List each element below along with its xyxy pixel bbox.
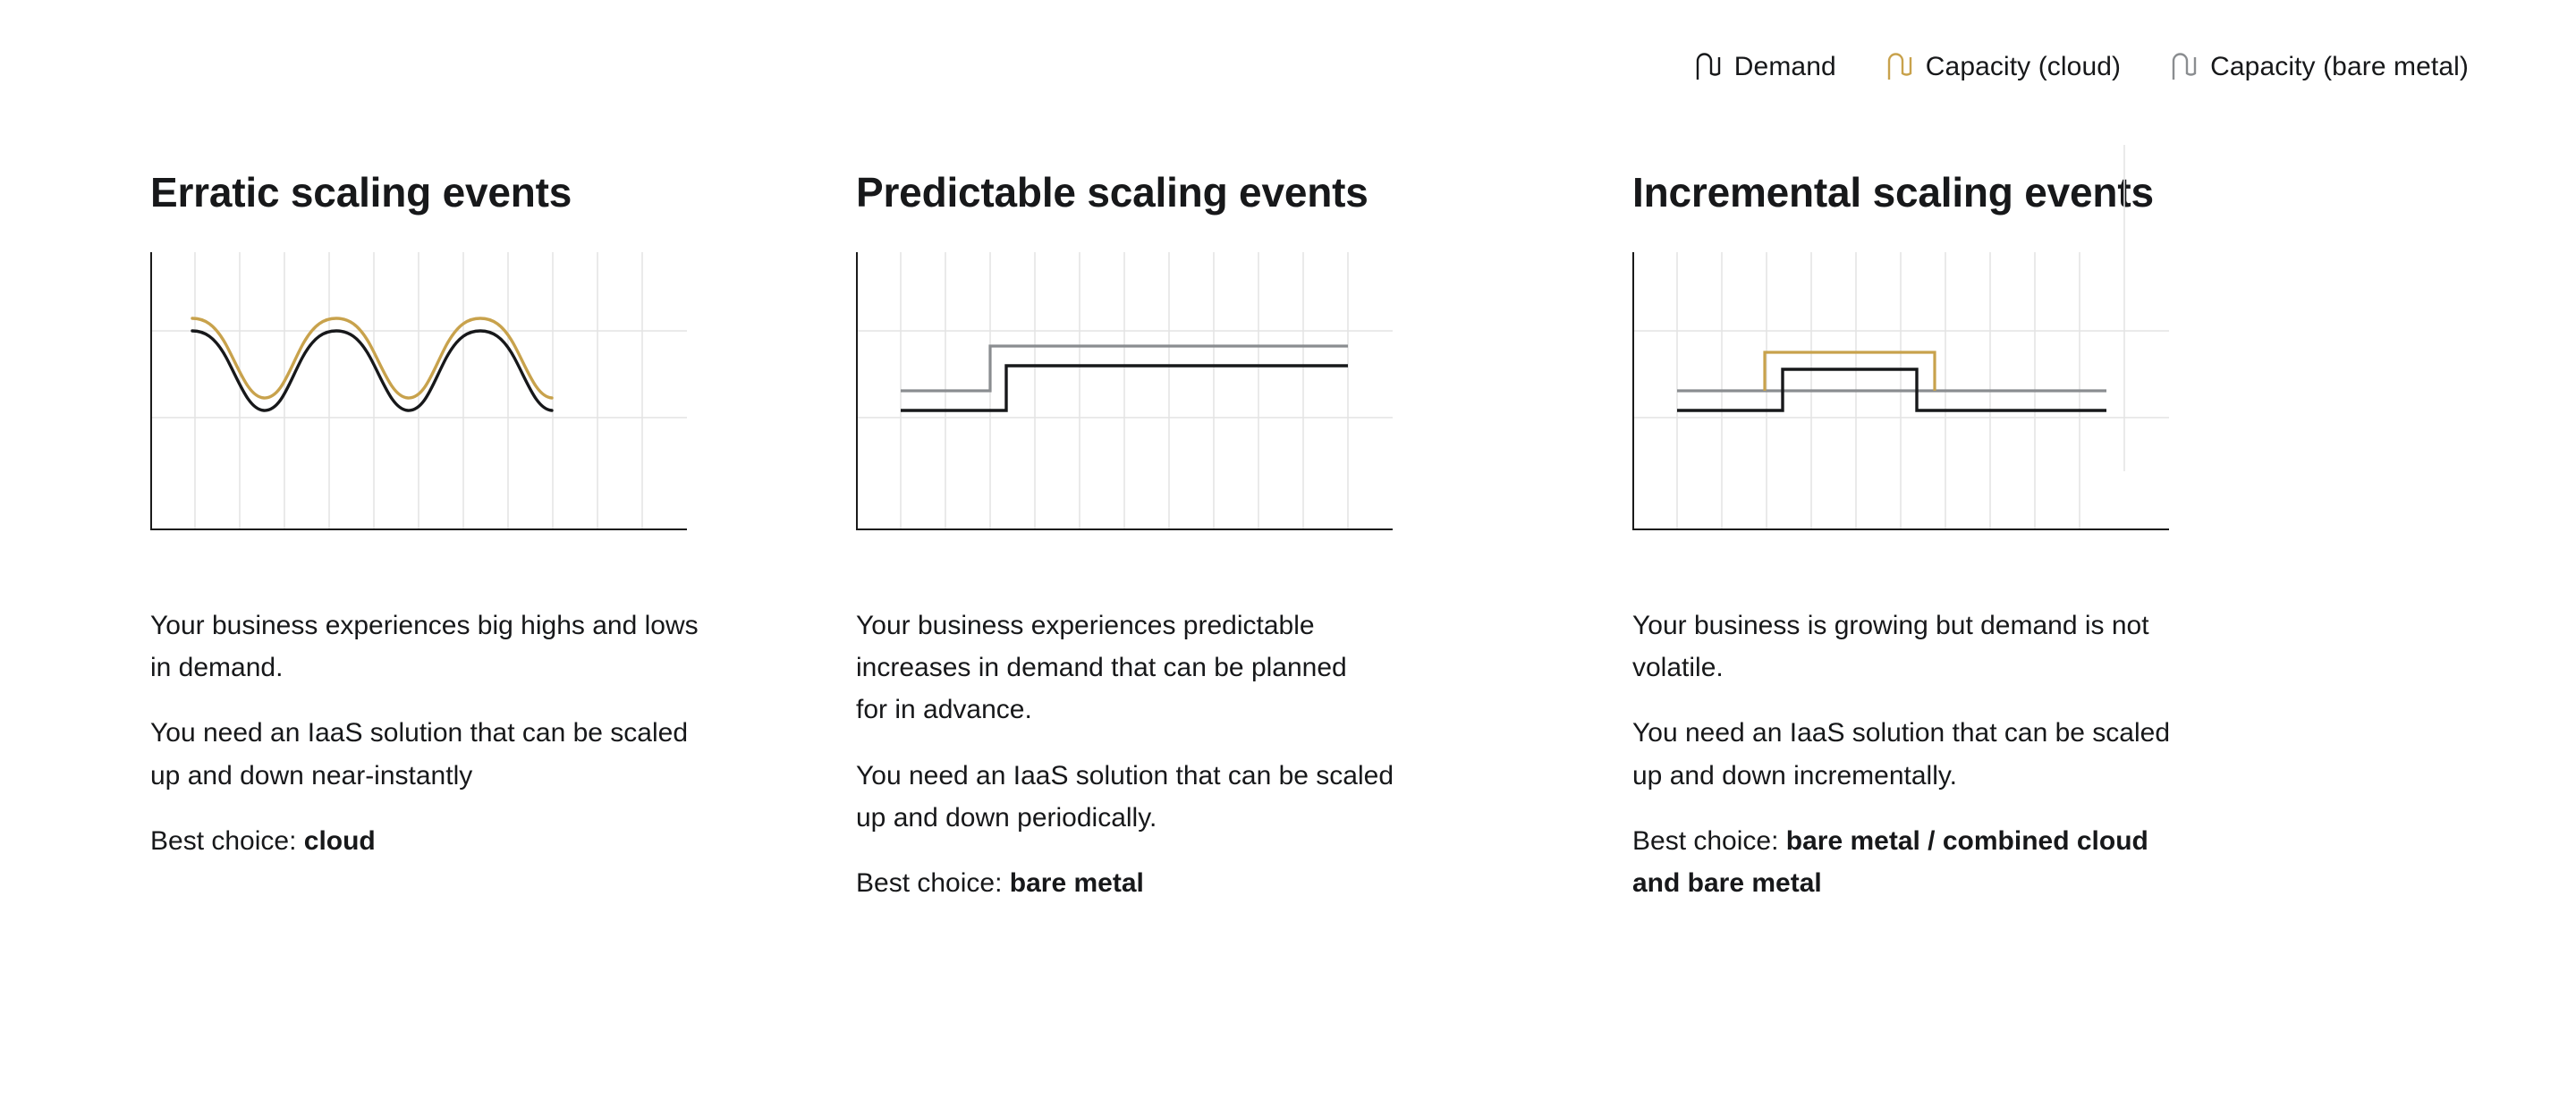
legend-item-capacity-cloud: Capacity (cloud) xyxy=(1886,52,2121,82)
paragraph-best-choice: Best choice: cloud xyxy=(150,820,705,862)
series-demand xyxy=(192,331,552,410)
paragraph-demand-description: Your business experiences predictable in… xyxy=(856,604,1384,731)
wave-icon xyxy=(1695,52,1722,82)
paragraph-solution-description: You need an IaaS solution that can be sc… xyxy=(856,755,1411,840)
chart-predictable-scaling-events xyxy=(856,252,1574,547)
best-choice-value: cloud xyxy=(304,826,376,856)
scaling-events-columns: Erratic scaling events xyxy=(0,170,2576,905)
description-erratic: Your business experiences big highs and … xyxy=(150,604,705,863)
best-choice-label: Best choice: xyxy=(150,826,304,856)
best-choice-label: Best choice: xyxy=(856,868,1010,898)
wave-icon xyxy=(2171,52,2198,82)
legend-item-demand: Demand xyxy=(1695,52,1836,82)
chart-erratic-scaling-events xyxy=(150,252,787,547)
column-incremental-scaling-events: Incremental scaling events xyxy=(1574,170,2361,905)
column-erratic-scaling-events: Erratic scaling events xyxy=(0,170,787,905)
series-capacity-cloud xyxy=(1765,352,1935,391)
chart-legend: Demand Capacity (cloud) Capacity (bare m… xyxy=(1695,52,2469,82)
page-title-predictable: Predictable scaling events xyxy=(856,170,1574,216)
best-choice-value: bare metal xyxy=(1010,868,1144,898)
legend-label-capacity-bare-metal: Capacity (bare metal) xyxy=(2210,54,2469,80)
description-predictable: Your business experiences predictable in… xyxy=(856,604,1411,905)
wave-icon xyxy=(1886,52,1913,82)
paragraph-solution-description: You need an IaaS solution that can be sc… xyxy=(1632,712,2187,797)
page-title-erratic: Erratic scaling events xyxy=(150,170,787,216)
paragraph-demand-description: Your business experiences big highs and … xyxy=(150,604,705,689)
chart-svg-incremental xyxy=(1632,252,2223,547)
paragraph-best-choice: Best choice: bare metal xyxy=(856,862,1411,904)
description-incremental: Your business is growing but demand is n… xyxy=(1632,604,2187,905)
chart-svg-predictable xyxy=(856,252,1411,547)
column-predictable-scaling-events: Predictable scaling events xyxy=(787,170,1574,905)
best-choice-label: Best choice: xyxy=(1632,826,1786,856)
legend-label-demand: Demand xyxy=(1734,54,1836,80)
legend-item-capacity-bare-metal: Capacity (bare metal) xyxy=(2171,52,2469,82)
paragraph-demand-description: Your business is growing but demand is n… xyxy=(1632,604,2187,689)
paragraph-solution-description: You need an IaaS solution that can be sc… xyxy=(150,712,705,797)
chart-svg-erratic xyxy=(150,252,705,547)
paragraph-best-choice: Best choice: bare metal / combined cloud… xyxy=(1632,820,2187,905)
legend-label-capacity-cloud: Capacity (cloud) xyxy=(1926,54,2121,80)
page-title-incremental: Incremental scaling events xyxy=(1632,170,2361,216)
gridlines-vertical xyxy=(195,252,642,529)
chart-incremental-scaling-events xyxy=(1632,252,2361,547)
